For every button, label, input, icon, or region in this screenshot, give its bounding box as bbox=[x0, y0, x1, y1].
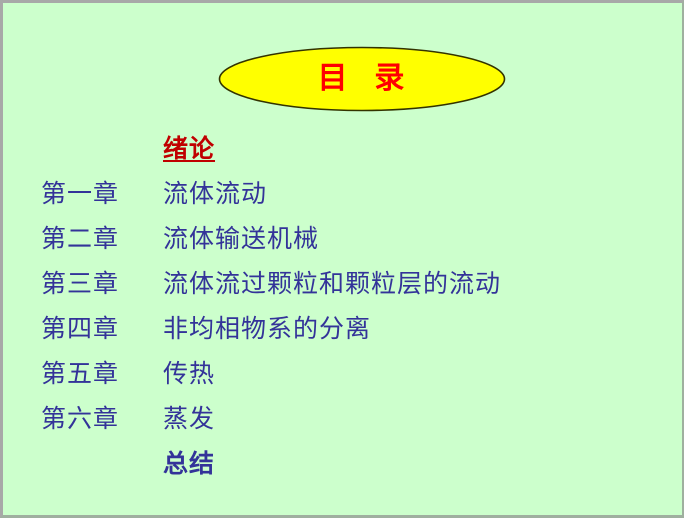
preface-label: 绪论 bbox=[163, 127, 215, 171]
chapter-title: 流体流过颗粒和颗粒层的流动 bbox=[163, 261, 501, 306]
chapter-title: 非均相物系的分离 bbox=[163, 306, 371, 351]
chapter-number: 第二章 bbox=[41, 216, 119, 261]
chapter-number: 第一章 bbox=[41, 171, 119, 216]
chapter-title: 流体流动 bbox=[163, 171, 267, 216]
chapter-number: 第四章 bbox=[41, 306, 119, 351]
chapter-number: 第三章 bbox=[41, 261, 119, 306]
toc-item-chapter-1[interactable]: 第一章 流体流动 bbox=[3, 171, 684, 216]
table-of-contents: 绪论 第一章 流体流动 第二章 流体输送机械 第三章 流体流过颗粒和颗粒层的流动… bbox=[3, 127, 684, 486]
chapter-title: 传热 bbox=[163, 351, 215, 396]
toc-item-preface[interactable]: 绪论 bbox=[3, 127, 684, 171]
toc-item-chapter-3[interactable]: 第三章 流体流过颗粒和颗粒层的流动 bbox=[3, 261, 684, 306]
chapter-title: 蒸发 bbox=[163, 396, 215, 441]
chapter-number: 第五章 bbox=[41, 351, 119, 396]
toc-item-chapter-5[interactable]: 第五章 传热 bbox=[3, 351, 684, 396]
toc-item-summary[interactable]: 总结 bbox=[3, 441, 684, 486]
toc-item-chapter-4[interactable]: 第四章 非均相物系的分离 bbox=[3, 306, 684, 351]
slide-title: 目 录 bbox=[218, 46, 506, 112]
chapter-number: 第六章 bbox=[41, 396, 119, 441]
chapter-title: 流体输送机械 bbox=[163, 216, 319, 261]
slide-canvas: 目 录 绪论 第一章 流体流动 第二章 流体输送机械 第三章 流体流过颗粒和颗粒… bbox=[0, 0, 684, 518]
toc-item-chapter-6[interactable]: 第六章 蒸发 bbox=[3, 396, 684, 441]
summary-label: 总结 bbox=[163, 441, 215, 486]
toc-item-chapter-2[interactable]: 第二章 流体输送机械 bbox=[3, 216, 684, 261]
